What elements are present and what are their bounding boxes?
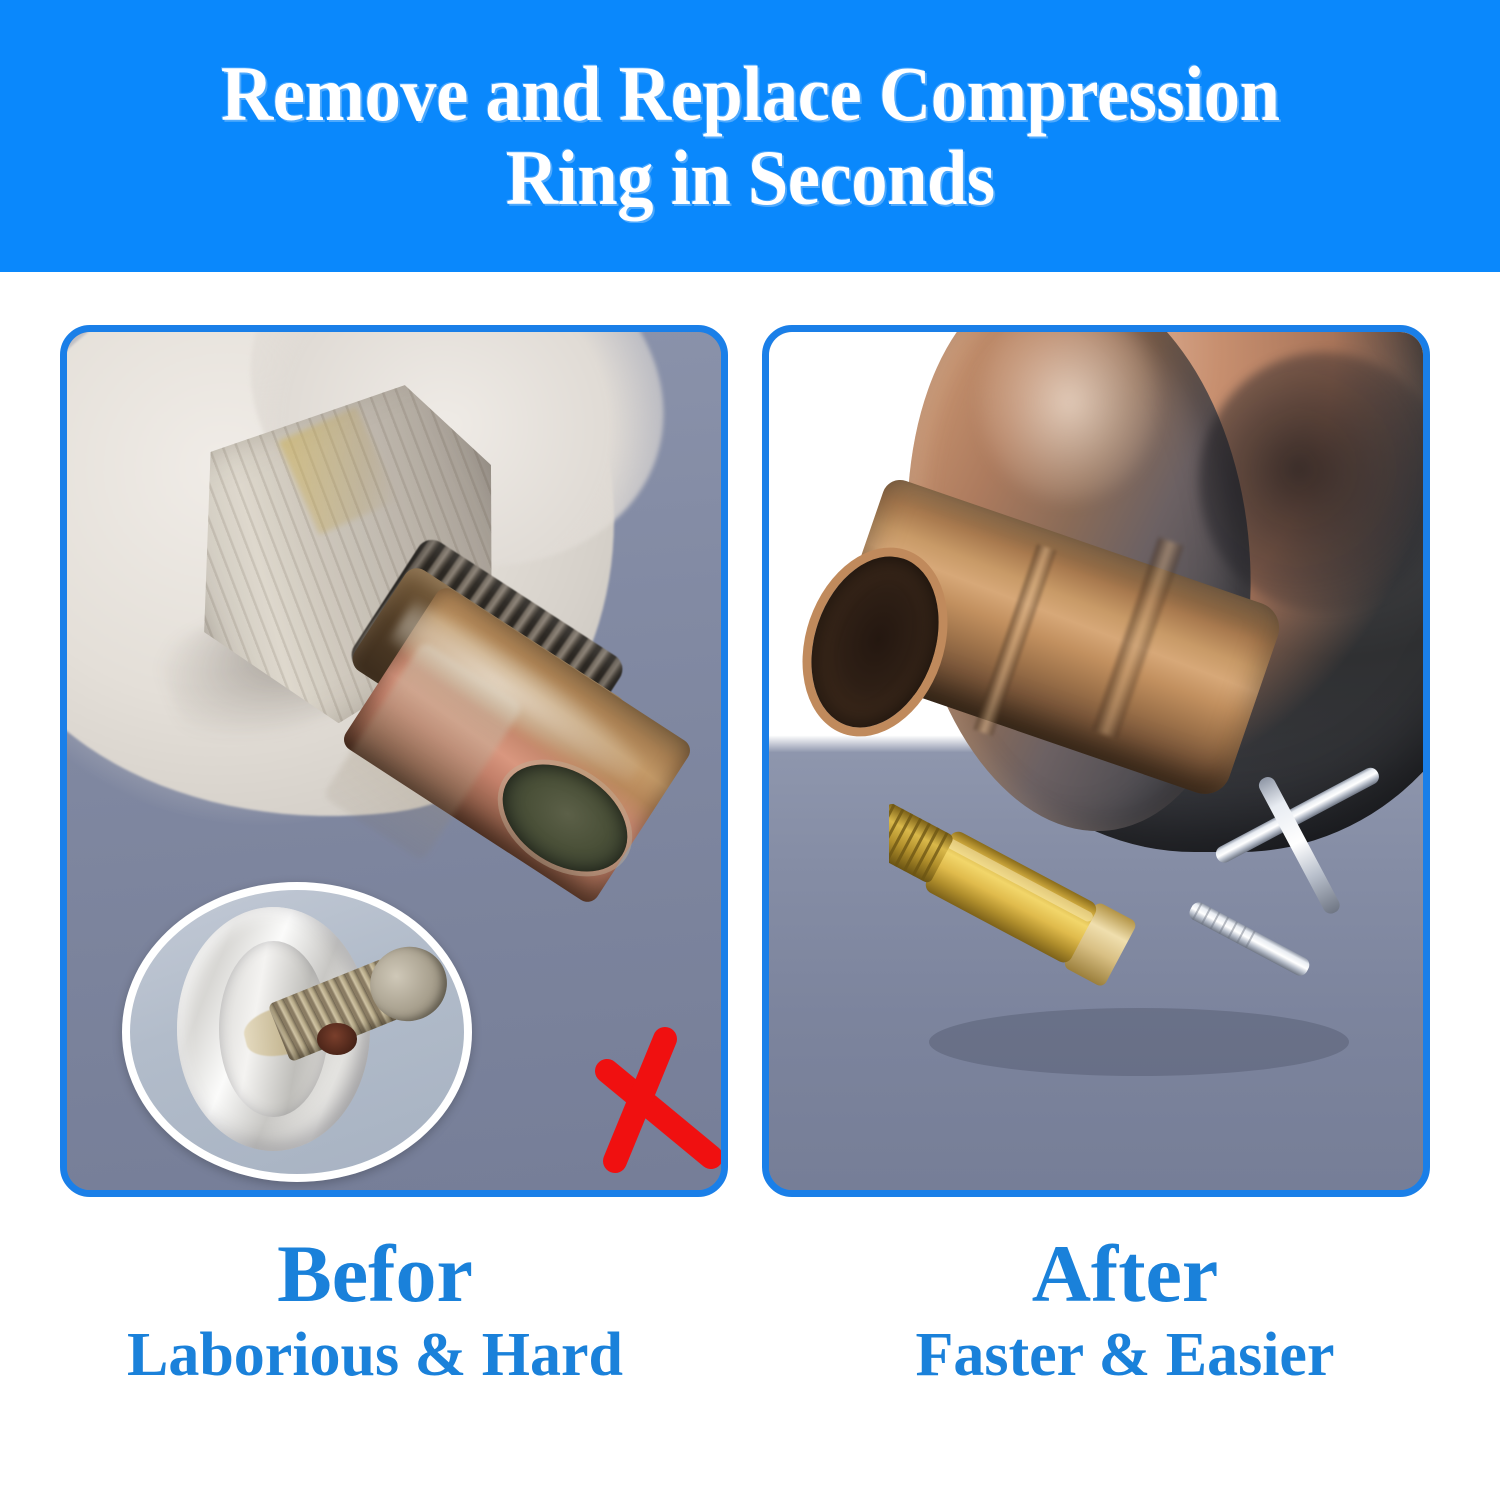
after-panel — [762, 325, 1430, 1197]
before-panel — [60, 325, 728, 1197]
after-caption-group: After Faster & Easier — [750, 1232, 1500, 1462]
before-photo — [67, 332, 721, 1190]
after-caption: After — [750, 1232, 1500, 1316]
damaged-hole — [317, 1023, 357, 1054]
comparison-panels — [0, 272, 1500, 1232]
damaged-fitting-closeup-inset — [122, 882, 472, 1182]
x-mark-icon — [583, 1025, 721, 1185]
captions-row: Befor Laborious & Hard After Faster & Ea… — [0, 1232, 1500, 1462]
after-subcaption: Faster & Easier — [750, 1320, 1500, 1391]
before-subcaption: Laborious & Hard — [0, 1320, 750, 1391]
after-photo — [769, 332, 1423, 1190]
before-caption-group: Befor Laborious & Hard — [0, 1232, 750, 1462]
page-title: Remove and Replace Compression Ring in S… — [165, 52, 1335, 220]
compression-ring-puller-tool — [889, 712, 1409, 1142]
header-banner: Remove and Replace Compression Ring in S… — [0, 0, 1500, 272]
before-caption: Befor — [0, 1232, 750, 1316]
